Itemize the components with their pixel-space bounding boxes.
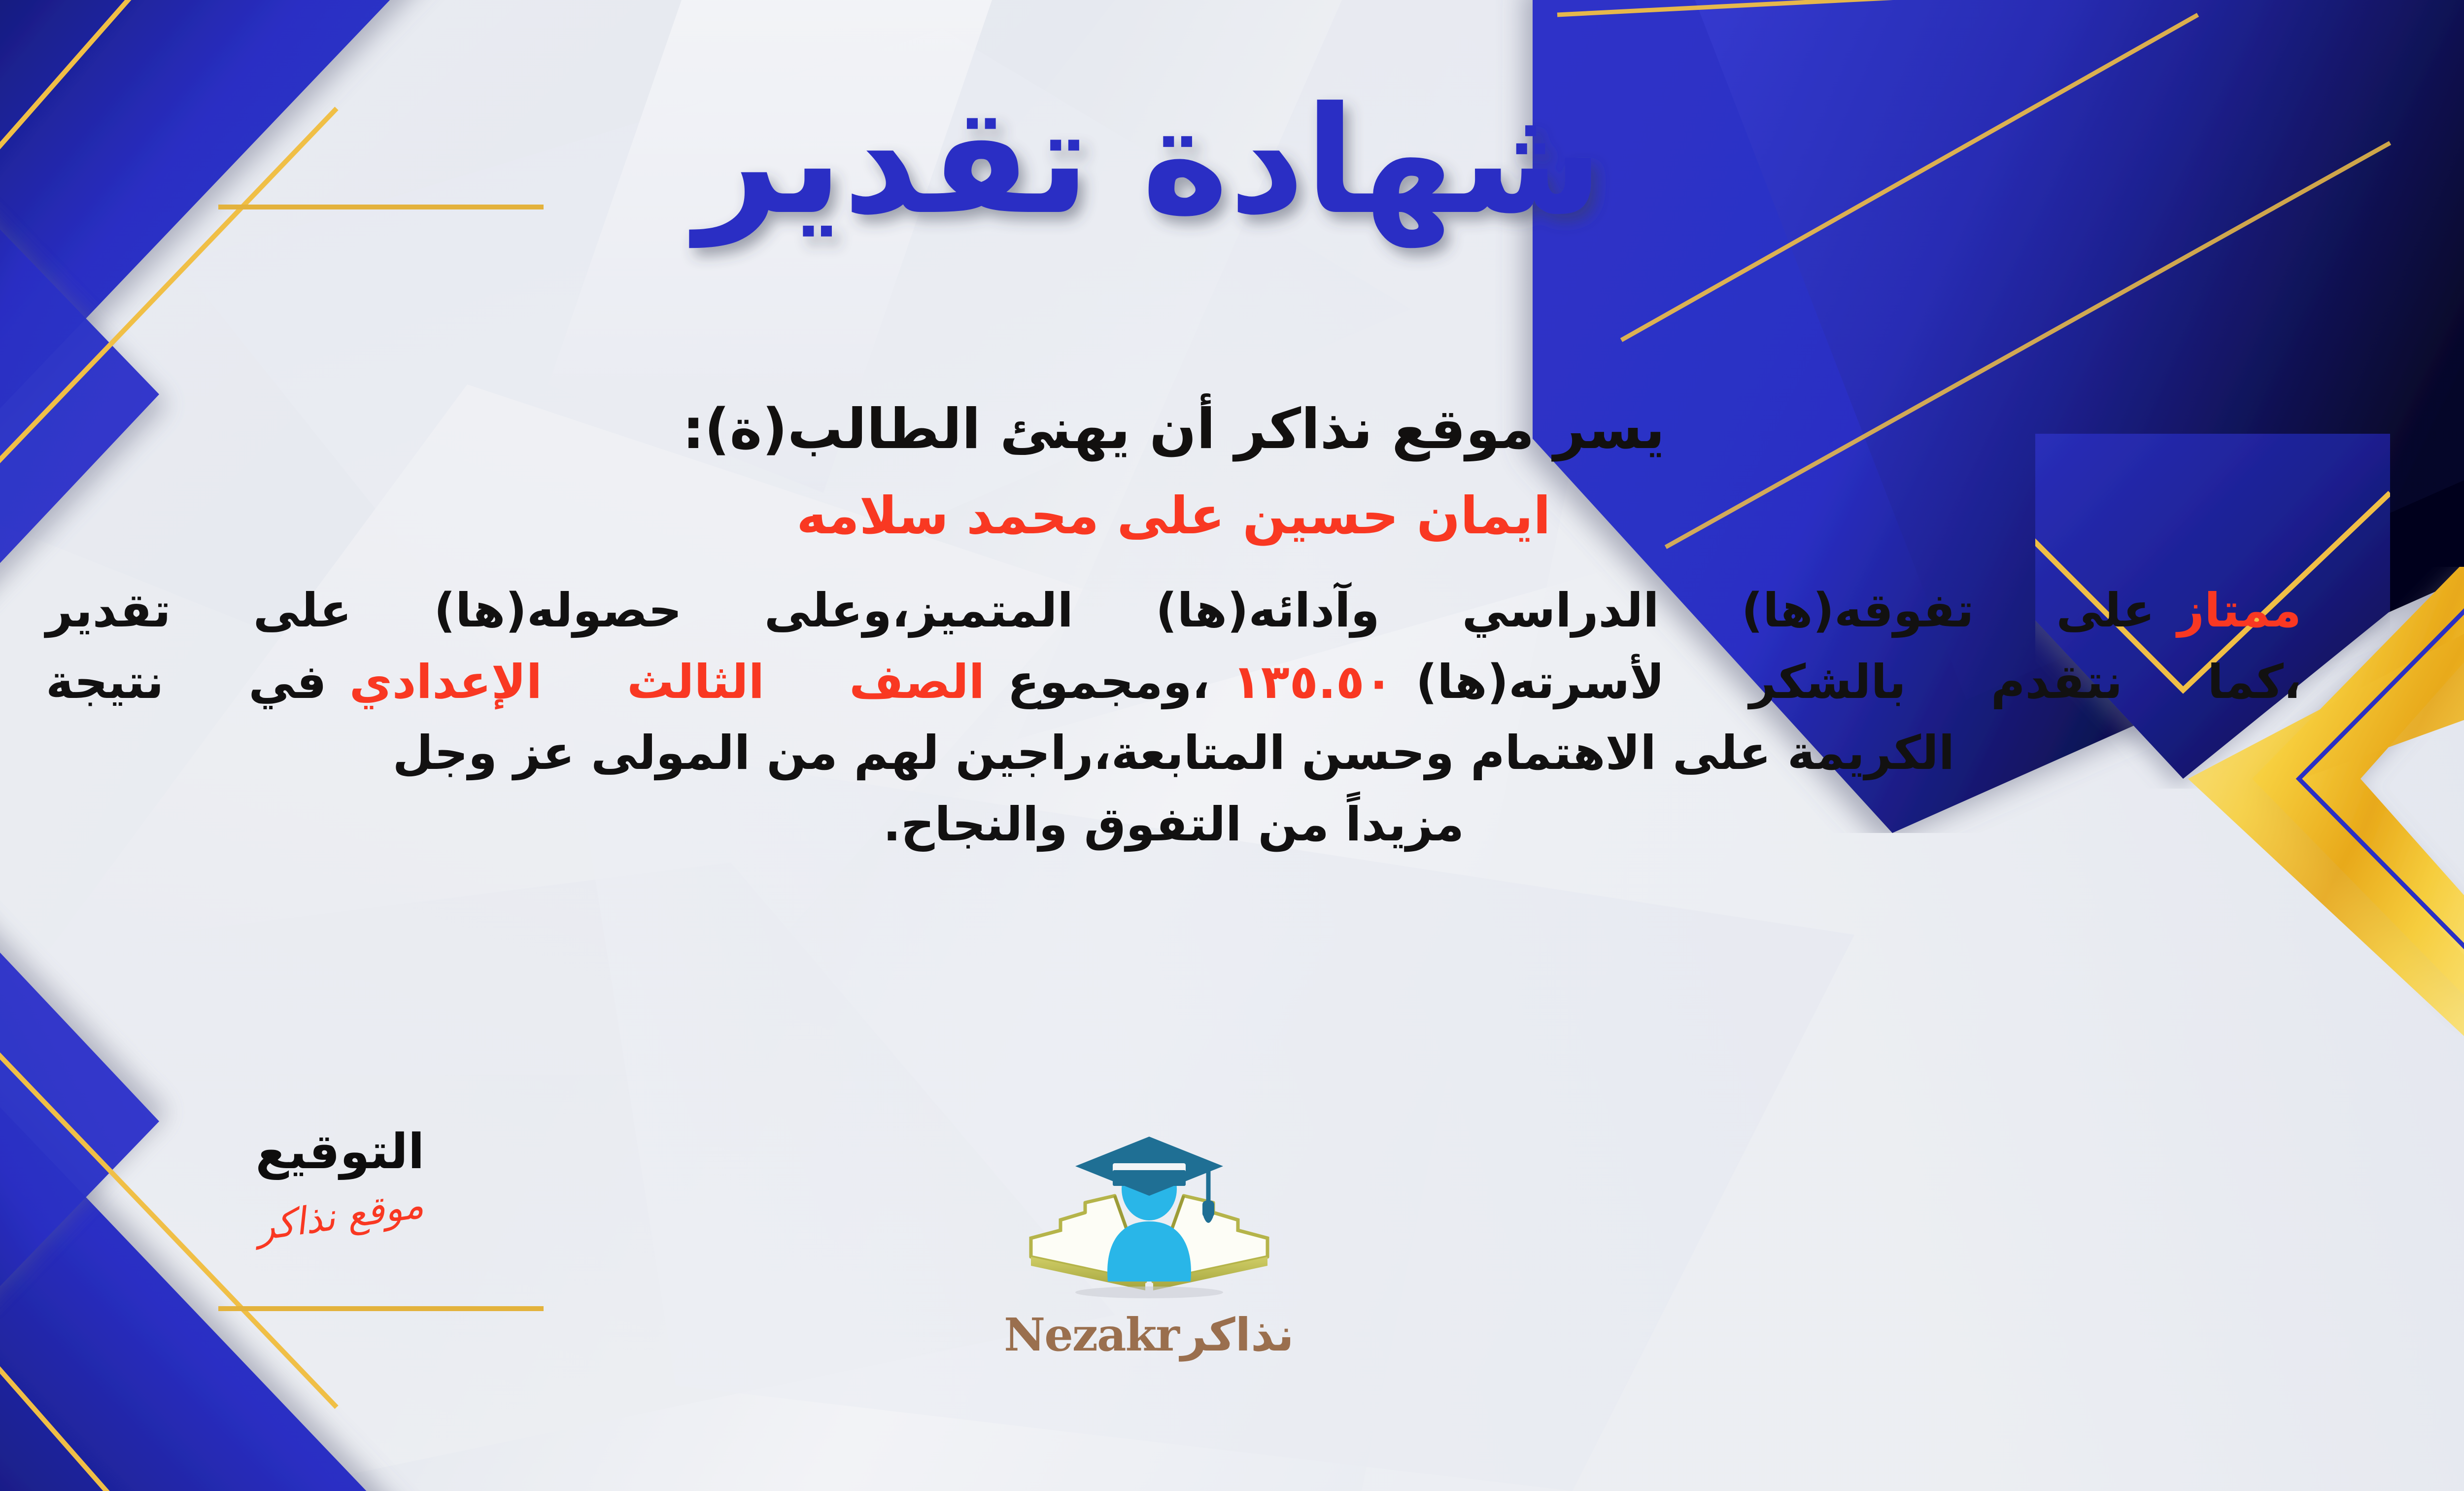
logo-graphic [1011,1134,1287,1311]
certificate-page: شهادة تقدير يسر موقع نذاكر أن يهنئ الطال… [0,0,2464,1491]
site-logo: Nezakr نذاكر [0,1134,2464,1361]
achievement-paragraph: ممتازعلى تفوقه(ها) الدراسي وآدائه(ها) ال… [46,575,2301,860]
paragraph-line-1: ممتازعلى تفوقه(ها) الدراسي وآدائه(ها) ال… [46,575,2301,646]
paragraph-line-2-tail: ،كما نتقدم بالشكر لأسرته(ها) [1416,655,2301,709]
certificate-title-calligraphy: شهادة تقدير [666,49,1632,286]
paragraph-line-2-head: في نتيجة [46,655,327,709]
lead-line: يسر موقع نذاكر أن يهنئ الطالب(ة): [46,394,2301,465]
student-name: ايمان حسين على محمد سلامه [46,484,2301,548]
paragraph-line-3: الكريمة على الاهتمام وحسن المتابعة،راجين… [46,718,2301,789]
certificate-title-text: شهادة تقدير [688,75,1603,249]
certificate-title-wrap: شهادة تقدير [0,49,2464,288]
logo-latin-name: Nezakr [1004,1308,1179,1361]
logo-wordmark: Nezakr نذاكر [1004,1308,1294,1361]
stage-label: الصف الثالث الإعدادي [349,655,985,709]
paragraph-line-2: ،كما نتقدم بالشكر لأسرته(ها)١٣٥.٥٠،ومجمو… [46,647,2301,718]
logo-arabic-name: نذاكر [1181,1309,1294,1361]
paragraph-line-4: مزيداً من التفوق والنجاح. [46,789,2301,860]
certificate-body: يسر موقع نذاكر أن يهنئ الطالب(ة): ايمان … [46,394,2301,860]
paragraph-line-1-text: على تفوقه(ها) الدراسي وآدائه(ها) المتميز… [46,584,2155,638]
paragraph-line-2-mid: ،ومجموع [1007,655,1210,709]
grade-label: ممتاز [2177,584,2301,638]
total-score: ١٣٥.٥٠ [1232,655,1393,709]
